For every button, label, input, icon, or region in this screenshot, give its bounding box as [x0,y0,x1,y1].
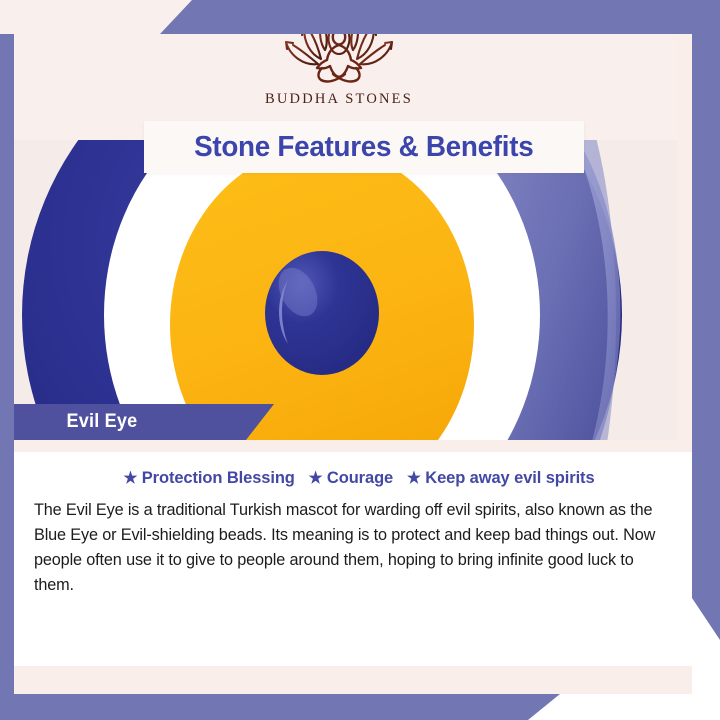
frame-left-accent [0,34,14,720]
benefit-item-2: Keep away evil spirits [425,468,594,487]
product-feature-poster: BUDDHA STONES [0,0,720,720]
frame-right-accent [692,0,720,640]
product-name: Evil Eye [17,411,137,433]
brand-name: BUDDHA STONES [265,91,413,108]
page-title-card: Stone Features & Benefits [144,121,584,173]
benefit-item-0: Protection Blessing [142,468,295,487]
star-icon: ★ [309,470,323,487]
description-panel: ★ Protection Blessing ★ Courage ★ Keep a… [14,452,706,666]
frame-bottom-accent [0,694,720,720]
description-text: The Evil Eye is a traditional Turkish ma… [34,498,674,598]
product-name-ribbon: Evil Eye [14,404,274,440]
star-icon: ★ [123,470,137,487]
page-title: Stone Features & Benefits [194,131,533,164]
benefit-item-1: Courage [327,468,393,487]
evil-eye-illustration [0,140,678,440]
benefits-list: ★ Protection Blessing ★ Courage ★ Keep a… [44,468,675,488]
star-icon: ★ [407,470,421,487]
evil-eye-amulet-icon [0,140,678,440]
